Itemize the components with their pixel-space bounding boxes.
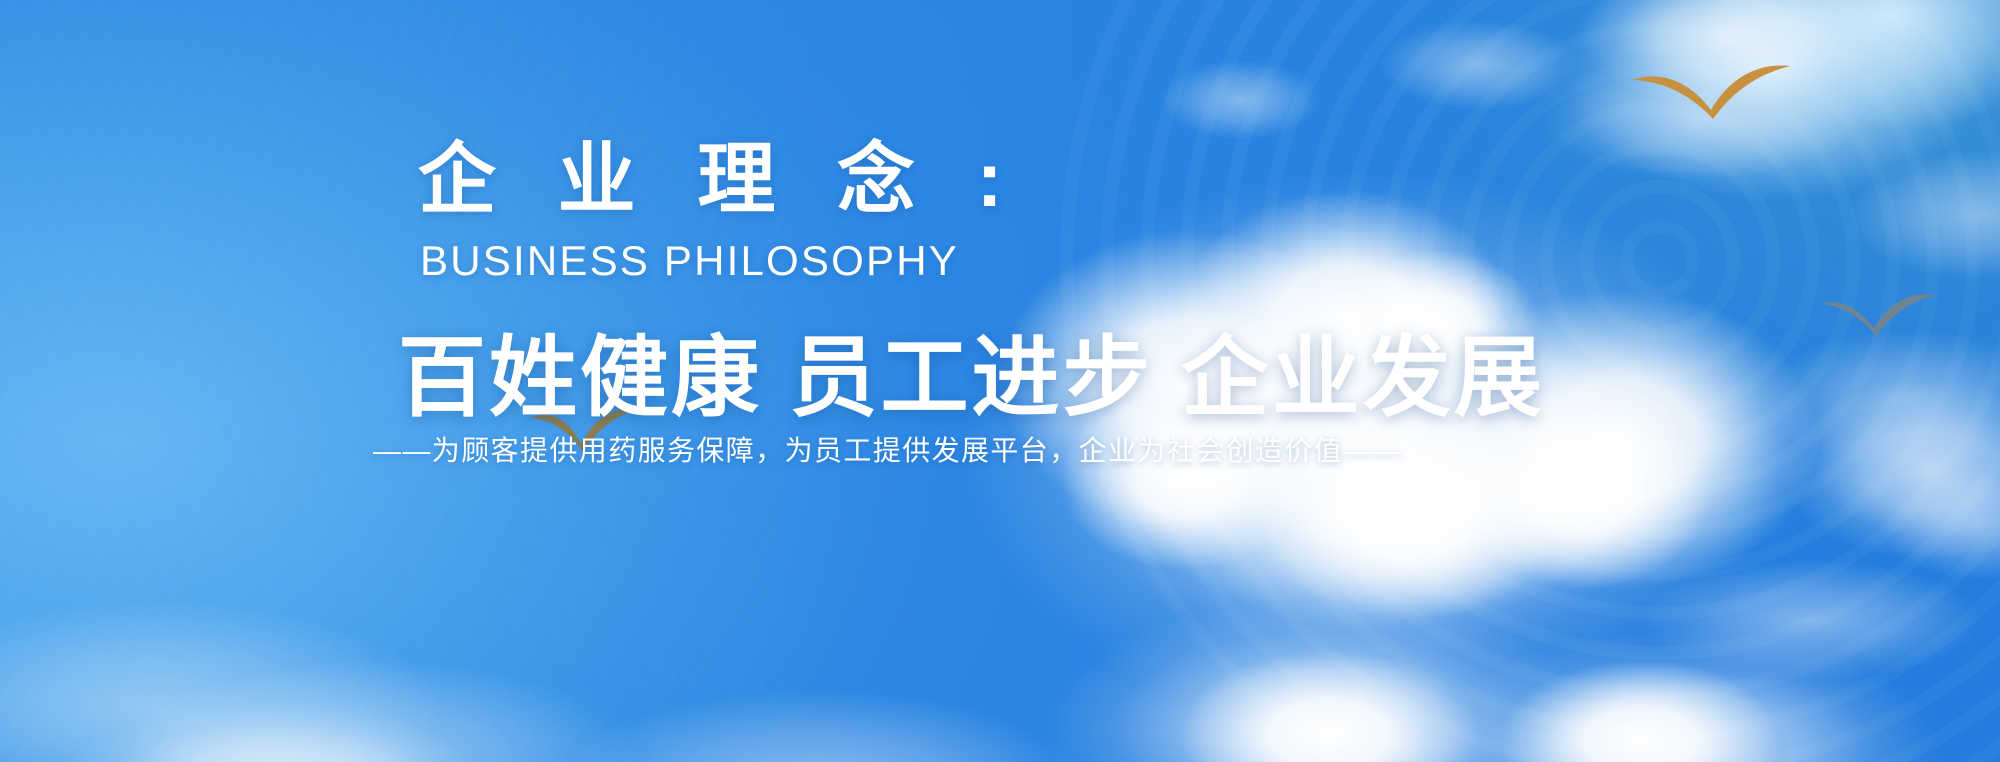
page-title: 企 业 理 念 : [418,140,1023,218]
page-subtitle: BUSINESS PHILOSOPHY [420,240,959,282]
business-philosophy-banner: 企 业 理 念 : BUSINESS PHILOSOPHY 百姓健康 员工进步 … [0,0,2000,762]
slogan-headline: 百姓健康 员工进步 企业发展 [398,334,1545,422]
banner-text-block: 企 业 理 念 : BUSINESS PHILOSOPHY 百姓健康 员工进步 … [0,0,2000,762]
slogan-tagline: ——为顾客提供用药服务保障，为员工提供发展平台，企业为社会创造价值—— [373,437,1402,465]
